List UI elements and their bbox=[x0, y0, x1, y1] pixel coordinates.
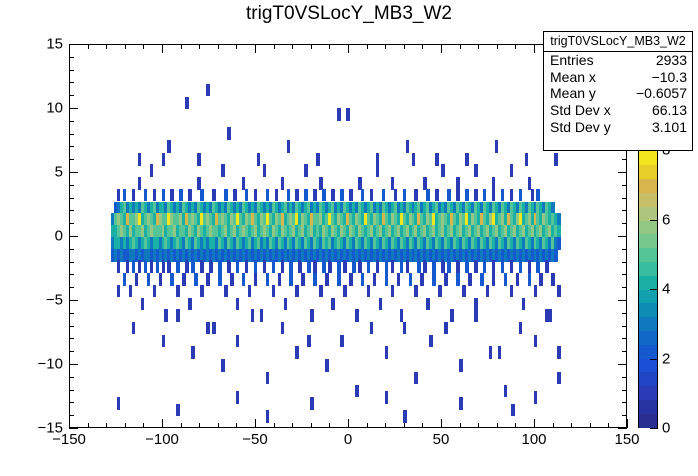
heatmap-cell bbox=[373, 273, 377, 286]
y-tick-right bbox=[622, 262, 627, 263]
x-tick-top bbox=[292, 44, 293, 49]
stats-row-key: Mean y bbox=[550, 85, 596, 101]
heatmap-cell bbox=[319, 285, 323, 298]
x-tick-top bbox=[236, 44, 237, 49]
heatmap-cell bbox=[456, 260, 460, 273]
x-tick bbox=[199, 423, 200, 428]
heatmap-cell bbox=[200, 260, 204, 273]
x-tick bbox=[218, 423, 219, 428]
palette-band bbox=[639, 192, 657, 206]
heatmap-cell bbox=[376, 153, 380, 166]
heatmap-cell bbox=[254, 273, 258, 286]
heatmap-cell bbox=[468, 273, 472, 286]
x-tick bbox=[534, 419, 535, 428]
heatmap-cell bbox=[414, 285, 418, 298]
heatmap-cell bbox=[138, 260, 142, 273]
heatmap-cell bbox=[328, 260, 332, 273]
y-tick-right bbox=[622, 415, 627, 416]
palette-tick bbox=[650, 220, 658, 221]
x-tick bbox=[88, 423, 89, 428]
x-tick-top bbox=[515, 44, 516, 49]
heatmap-cell bbox=[534, 335, 538, 348]
heatmap-cell bbox=[230, 273, 234, 286]
y-tick bbox=[69, 223, 74, 224]
heatmap-cell bbox=[551, 273, 555, 286]
heatmap-cell bbox=[179, 189, 183, 202]
heatmap-cell bbox=[325, 359, 329, 372]
y-tick-label: 0 bbox=[21, 228, 63, 245]
heatmap-cell bbox=[465, 153, 469, 166]
y-tick-label: −5 bbox=[21, 292, 63, 309]
heatmap-cell bbox=[206, 273, 210, 286]
y-tick bbox=[69, 402, 74, 403]
heatmap-cell bbox=[224, 285, 228, 298]
heatmap-cell bbox=[447, 260, 451, 273]
y-tick bbox=[69, 236, 78, 237]
palette-tick-label: 4 bbox=[662, 281, 670, 298]
heatmap-cell bbox=[144, 189, 148, 202]
heatmap-cell bbox=[438, 285, 442, 298]
heatmap-cell bbox=[459, 397, 463, 410]
stats-row: Std Dev y3.101 bbox=[544, 118, 692, 135]
heatmap-cell bbox=[176, 260, 180, 273]
x-tick bbox=[478, 423, 479, 428]
heatmap-cell bbox=[117, 189, 121, 202]
palette-band bbox=[639, 399, 657, 413]
heatmap-cell bbox=[281, 260, 285, 273]
heatmap-cell bbox=[403, 322, 407, 335]
heatmap-cell bbox=[132, 322, 136, 335]
x-tick-label: 50 bbox=[433, 431, 450, 448]
heatmap-cell bbox=[313, 260, 317, 273]
heatmap-cell bbox=[409, 273, 413, 286]
heatmap-cell bbox=[545, 260, 549, 273]
heatmap-cell bbox=[313, 189, 317, 202]
heatmap-cell bbox=[281, 322, 285, 335]
palette-band bbox=[639, 206, 657, 220]
y-tick-right bbox=[618, 172, 627, 173]
x-tick-label: −50 bbox=[242, 431, 267, 448]
y-tick bbox=[69, 198, 74, 199]
y-tick-right bbox=[622, 185, 627, 186]
heatmap-cell bbox=[266, 372, 270, 385]
x-tick-top bbox=[404, 44, 405, 49]
stats-box: trigT0VSLocY_MB3_W2 Entries2933Mean x−10… bbox=[543, 31, 693, 151]
heatmap-cell bbox=[170, 189, 174, 202]
heatmap-cell bbox=[444, 322, 448, 335]
heatmap-cell bbox=[191, 260, 195, 273]
heatmap-cell bbox=[263, 164, 267, 177]
x-tick-top bbox=[460, 44, 461, 49]
y-tick-right bbox=[622, 351, 627, 352]
heatmap-cell bbox=[132, 189, 136, 202]
heatmap-cell bbox=[212, 189, 216, 202]
x-tick bbox=[348, 419, 349, 428]
y-tick bbox=[69, 249, 74, 250]
heatmap-cell bbox=[295, 189, 299, 202]
heatmap-cell bbox=[236, 298, 240, 311]
heatmap-cell bbox=[412, 153, 416, 166]
palette-band bbox=[639, 372, 657, 386]
y-tick bbox=[69, 415, 74, 416]
heatmap-cell bbox=[284, 298, 288, 311]
heatmap-cell bbox=[254, 189, 258, 202]
x-tick bbox=[590, 423, 591, 428]
heatmap-cell bbox=[123, 273, 127, 286]
heatmap-cell bbox=[200, 285, 204, 298]
heatmap-cell bbox=[287, 140, 291, 153]
heatmap-cell bbox=[441, 260, 445, 273]
heatmap-cell bbox=[406, 260, 410, 273]
heatmap-cell bbox=[159, 273, 163, 286]
x-tick-top bbox=[199, 44, 200, 49]
x-tick-top bbox=[329, 44, 330, 49]
heatmap-cell bbox=[167, 140, 171, 153]
heatmap-cell bbox=[534, 285, 538, 298]
x-tick-top bbox=[88, 44, 89, 49]
heatmap-cell bbox=[263, 260, 267, 273]
heatmap-cell bbox=[188, 298, 192, 311]
heatmap-cell bbox=[465, 260, 469, 273]
palette-tick-label: 2 bbox=[662, 350, 670, 367]
heatmap-cell bbox=[191, 346, 195, 359]
page-title: trigT0VSLocY_MB3_W2 bbox=[0, 3, 698, 25]
heatmap-cell bbox=[340, 335, 344, 348]
y-tick-right bbox=[622, 249, 627, 250]
x-tick bbox=[274, 423, 275, 428]
heatmap-cell bbox=[278, 273, 282, 286]
palette-tick-label: 0 bbox=[662, 420, 670, 437]
heatmap-cell bbox=[370, 189, 374, 202]
heatmap-cell bbox=[340, 189, 344, 202]
heatmap-cell bbox=[432, 273, 436, 286]
y-tick-label: −15 bbox=[21, 420, 63, 437]
heatmap-cell bbox=[289, 260, 293, 273]
y-tick bbox=[69, 95, 74, 96]
heatmap-cell bbox=[504, 385, 508, 398]
palette-band bbox=[639, 165, 657, 179]
heatmap-cell bbox=[307, 335, 311, 348]
x-tick-top bbox=[311, 44, 312, 49]
heatmap-cell bbox=[221, 359, 225, 372]
heatmap-cell bbox=[194, 273, 198, 286]
heatmap-cell bbox=[221, 164, 225, 177]
heatmap-cell bbox=[147, 273, 151, 286]
heatmap-cell bbox=[176, 309, 180, 322]
palette-band bbox=[639, 179, 657, 193]
stats-row-value: −0.6057 bbox=[636, 85, 687, 101]
heatmap-cell bbox=[423, 260, 427, 273]
heatmap-cell bbox=[456, 273, 460, 286]
heatmap-cell bbox=[474, 164, 478, 177]
palette-band bbox=[639, 358, 657, 372]
stats-row: Std Dev x66.13 bbox=[544, 102, 692, 119]
x-tick-label: 0 bbox=[344, 431, 352, 448]
heatmap-cell bbox=[245, 260, 249, 273]
heatmap-cell bbox=[519, 322, 523, 335]
heatmap-cell bbox=[480, 273, 484, 286]
palette-band bbox=[639, 413, 657, 427]
heatmap-cell bbox=[289, 273, 293, 286]
heatmap-cell bbox=[554, 153, 558, 166]
heatmap-cell bbox=[459, 359, 463, 372]
heatmap-cell bbox=[349, 273, 353, 286]
x-tick bbox=[125, 423, 126, 428]
heatmap-cell bbox=[429, 335, 433, 348]
heatmap-cell bbox=[236, 391, 240, 404]
heatmap-cell bbox=[557, 346, 561, 359]
y-tick bbox=[69, 287, 74, 288]
heatmap-cell bbox=[138, 177, 142, 190]
y-tick bbox=[69, 134, 74, 135]
heatmap-cell bbox=[176, 404, 180, 417]
x-tick bbox=[608, 423, 609, 428]
heatmap-cell bbox=[337, 108, 341, 121]
heatmap-cell bbox=[138, 153, 142, 166]
heatmap-cell bbox=[492, 189, 496, 202]
heatmap-cell bbox=[391, 285, 395, 298]
heatmap-cell bbox=[257, 153, 261, 166]
stats-row-value: 3.101 bbox=[652, 119, 687, 135]
heatmap-cell bbox=[367, 285, 371, 298]
y-tick bbox=[69, 377, 74, 378]
heatmap-cell bbox=[557, 285, 561, 298]
heatmap-cell bbox=[406, 140, 410, 153]
palette-tick bbox=[650, 428, 658, 429]
y-tick bbox=[69, 390, 74, 391]
heatmap-cell bbox=[528, 273, 532, 286]
heatmap-cell bbox=[123, 189, 127, 202]
heatmap-cell bbox=[361, 189, 365, 202]
heatmap-cell bbox=[528, 260, 532, 273]
heatmap-cell bbox=[117, 397, 121, 410]
y-tick bbox=[69, 338, 74, 339]
y-tick-right bbox=[622, 210, 627, 211]
heatmap-cell bbox=[117, 260, 121, 273]
heatmap-cell bbox=[531, 189, 535, 202]
heatmap-cell bbox=[376, 260, 380, 273]
y-tick bbox=[69, 351, 74, 352]
heatmap-cell bbox=[304, 189, 308, 202]
x-tick-top bbox=[255, 44, 256, 53]
heatmap-cell bbox=[176, 285, 180, 298]
x-tick bbox=[181, 423, 182, 428]
heatmap-cell bbox=[322, 260, 326, 273]
heatmap-cell bbox=[548, 309, 552, 322]
heatmap-cell bbox=[385, 346, 389, 359]
heatmap-cell bbox=[322, 189, 326, 202]
heatmap-cell bbox=[126, 260, 130, 273]
heatmap-cell bbox=[536, 189, 540, 202]
x-tick bbox=[69, 419, 70, 428]
heatmap-cell bbox=[236, 260, 240, 273]
stats-rows: Entries2933Mean x−10.3Mean y−0.6057Std D… bbox=[544, 52, 692, 135]
palette-band bbox=[639, 220, 657, 234]
heatmap-cell bbox=[391, 260, 395, 273]
heatmap-cell bbox=[343, 260, 347, 273]
x-tick-top bbox=[478, 44, 479, 49]
heatmap-cell bbox=[397, 273, 401, 286]
x-tick bbox=[627, 419, 628, 428]
heatmap-cell bbox=[233, 189, 237, 202]
palette-band bbox=[639, 330, 657, 344]
heatmap-cell bbox=[510, 164, 514, 177]
heatmap-cell bbox=[206, 84, 210, 97]
stats-row-value: −10.3 bbox=[652, 69, 687, 85]
heatmap-cell bbox=[266, 273, 270, 286]
heatmap-cell bbox=[400, 309, 404, 322]
y-tick bbox=[69, 326, 74, 327]
heatmap-cell bbox=[316, 153, 320, 166]
x-tick-top bbox=[162, 44, 163, 53]
y-tick bbox=[69, 262, 74, 263]
heatmap-cell bbox=[400, 260, 404, 273]
stats-row-value: 66.13 bbox=[652, 102, 687, 118]
heatmap-cell bbox=[355, 309, 359, 322]
stats-row: Entries2933 bbox=[544, 52, 692, 69]
heatmap-cell bbox=[525, 153, 529, 166]
heatmap-cell bbox=[510, 285, 514, 298]
heatmap-cell bbox=[414, 189, 418, 202]
y-tick-right bbox=[618, 236, 627, 237]
heatmap-cell bbox=[170, 273, 174, 286]
x-tick bbox=[460, 423, 461, 428]
palette-band bbox=[639, 303, 657, 317]
x-tick-top bbox=[367, 44, 368, 49]
heatmap-cell bbox=[426, 189, 430, 202]
heatmap-cell bbox=[450, 309, 454, 322]
y-tick bbox=[69, 428, 78, 429]
heatmap-cell bbox=[483, 189, 487, 202]
x-tick bbox=[162, 419, 163, 428]
heatmap-cell bbox=[510, 189, 514, 202]
y-tick-label: 5 bbox=[21, 164, 63, 181]
heatmap-cell bbox=[346, 108, 350, 121]
heatmap-cell bbox=[516, 273, 520, 286]
stats-row-key: Std Dev y bbox=[550, 119, 611, 135]
heatmap-cell bbox=[462, 285, 466, 298]
stats-row-value: 2933 bbox=[656, 52, 687, 68]
palette-band bbox=[639, 261, 657, 275]
heatmap-cell bbox=[150, 164, 154, 177]
y-tick bbox=[69, 146, 74, 147]
heatmap-cell bbox=[200, 189, 204, 202]
heatmap-cell bbox=[337, 260, 341, 273]
stats-row-key: Std Dev x bbox=[550, 102, 611, 118]
palette-band bbox=[639, 317, 657, 331]
heatmap-cell bbox=[313, 273, 317, 286]
x-tick bbox=[255, 419, 256, 428]
heatmap-cell bbox=[162, 260, 166, 273]
palette-tick-label: 6 bbox=[662, 211, 670, 228]
heatmap-cell bbox=[188, 189, 192, 202]
palette-band bbox=[639, 289, 657, 303]
x-tick-top bbox=[274, 44, 275, 49]
x-tick bbox=[553, 423, 554, 428]
heatmap-cell bbox=[117, 285, 121, 298]
heatmap-cell bbox=[295, 346, 299, 359]
heatmap-cell bbox=[310, 309, 314, 322]
heatmap-cell bbox=[236, 335, 240, 348]
heatmap-cell bbox=[129, 285, 133, 298]
heatmap-cell bbox=[212, 322, 216, 335]
heatmap-cell bbox=[426, 298, 430, 311]
heatmap-cell bbox=[557, 237, 561, 250]
y-tick bbox=[69, 70, 74, 71]
heatmap-cell bbox=[557, 372, 561, 385]
heatmap-cell bbox=[337, 273, 341, 286]
heatmap-cell bbox=[287, 189, 291, 202]
y-tick-right bbox=[622, 338, 627, 339]
y-tick-right bbox=[622, 390, 627, 391]
y-tick-right bbox=[622, 326, 627, 327]
heatmap-cell bbox=[522, 298, 526, 311]
heatmap-cell bbox=[492, 273, 496, 286]
heatmap-cell bbox=[501, 189, 505, 202]
heatmap-cell bbox=[385, 273, 389, 286]
heatmap-cell bbox=[185, 260, 189, 273]
x-tick-top bbox=[181, 44, 182, 49]
x-tick-top bbox=[441, 44, 442, 53]
heatmap-cell bbox=[141, 298, 145, 311]
x-tick bbox=[311, 423, 312, 428]
heatmap-cell bbox=[153, 189, 157, 202]
x-tick-top bbox=[125, 44, 126, 49]
x-tick bbox=[515, 423, 516, 428]
y-tick-right bbox=[622, 159, 627, 160]
heatmap-cell bbox=[358, 260, 362, 273]
x-tick bbox=[571, 423, 572, 428]
heatmap-cell bbox=[417, 260, 421, 273]
heatmap-cell bbox=[218, 273, 222, 286]
heatmap-cell bbox=[164, 309, 168, 322]
heatmap-cell bbox=[403, 410, 407, 423]
heatmap-cell bbox=[331, 298, 335, 311]
heatmap-cell bbox=[227, 127, 231, 140]
heatmap-cell bbox=[474, 309, 478, 322]
heatmap-cell bbox=[197, 153, 201, 166]
heatmap-cell bbox=[162, 189, 166, 202]
heatmap-cell bbox=[162, 335, 166, 348]
heatmap-cell bbox=[352, 260, 356, 273]
heatmap-cell bbox=[498, 346, 502, 359]
x-tick-top bbox=[534, 44, 535, 53]
heatmap-cell bbox=[260, 309, 264, 322]
heatmap-cell bbox=[227, 260, 231, 273]
x-tick bbox=[143, 423, 144, 428]
heatmap-cell bbox=[242, 273, 246, 286]
stats-row-key: Entries bbox=[550, 52, 594, 68]
x-tick-top bbox=[106, 44, 107, 49]
y-tick bbox=[69, 185, 74, 186]
heatmap-cell bbox=[150, 260, 154, 273]
heatmap-cell bbox=[536, 260, 540, 273]
heatmap-cell bbox=[495, 140, 499, 153]
heatmap-cell bbox=[153, 285, 157, 298]
heatmap-cell bbox=[298, 260, 302, 273]
y-tick bbox=[69, 44, 78, 45]
x-tick bbox=[106, 423, 107, 428]
x-tick bbox=[404, 423, 405, 428]
y-tick-right bbox=[622, 402, 627, 403]
heatmap-cell bbox=[349, 189, 353, 202]
stats-row: Mean x−10.3 bbox=[544, 69, 692, 86]
heatmap-cell bbox=[218, 260, 222, 273]
heatmap-cell bbox=[432, 260, 436, 273]
heatmap-cell bbox=[167, 260, 171, 273]
heatmap-cell bbox=[162, 153, 166, 166]
palette-band bbox=[639, 248, 657, 262]
